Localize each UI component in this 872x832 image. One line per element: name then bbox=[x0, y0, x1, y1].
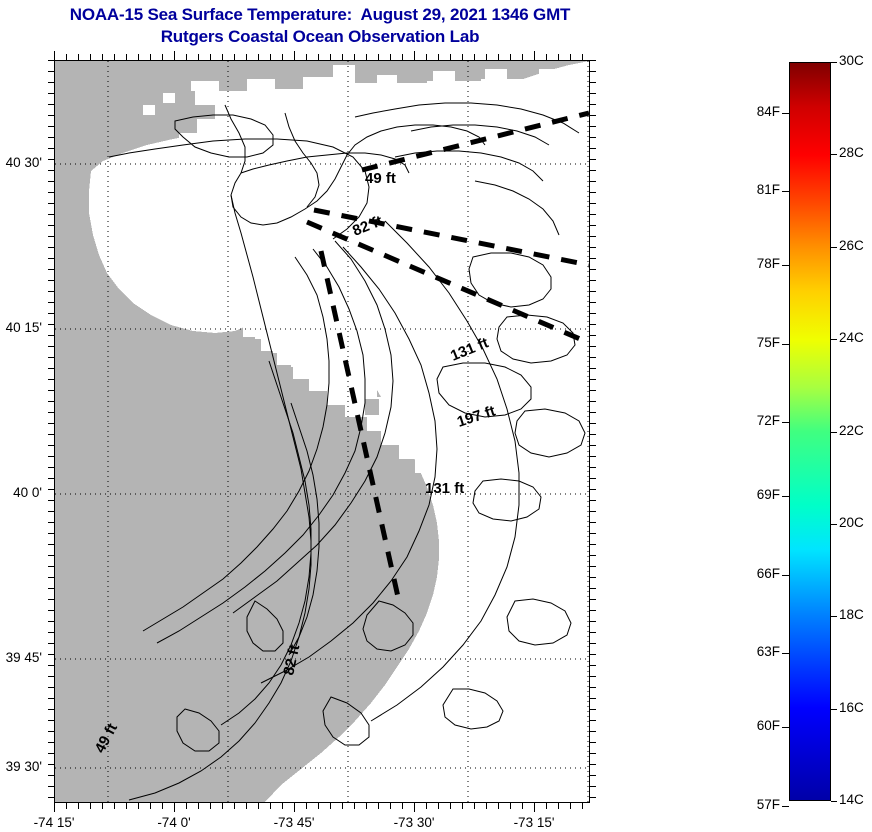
y-axis-tick bbox=[48, 203, 54, 204]
colorbar-tick-fahrenheit bbox=[782, 575, 789, 576]
x-axis-tick-top bbox=[138, 54, 139, 60]
x-axis-tick-top bbox=[378, 54, 379, 60]
y-axis-tick bbox=[48, 170, 54, 171]
y-axis-tick bbox=[48, 412, 54, 413]
x-axis-tick-top bbox=[438, 54, 439, 60]
x-axis-tick bbox=[198, 803, 199, 809]
y-axis-tick-right bbox=[590, 269, 596, 270]
colorbar-label-celsius: 16C bbox=[839, 700, 864, 715]
x-axis-label: -73 15' bbox=[484, 815, 584, 830]
y-axis-tick-right bbox=[590, 720, 596, 721]
y-axis-tick bbox=[48, 104, 54, 105]
page-title: NOAA-15 Sea Surface Temperature: August … bbox=[0, 4, 640, 48]
y-axis-tick bbox=[48, 731, 54, 732]
y-axis-tick bbox=[48, 214, 54, 215]
sst-map-page: NOAA-15 Sea Surface Temperature: August … bbox=[0, 0, 872, 832]
colorbar-label-fahrenheit: 81F bbox=[724, 182, 780, 197]
y-axis-tick-right bbox=[590, 324, 596, 325]
colorbar-tick-celsius bbox=[831, 801, 837, 802]
x-axis-tick bbox=[162, 803, 163, 809]
x-axis-tick-top bbox=[462, 54, 463, 60]
x-axis-tick bbox=[138, 803, 139, 809]
y-axis-tick-right bbox=[590, 379, 596, 380]
x-axis-tick-top bbox=[258, 54, 259, 60]
x-axis-tick bbox=[474, 803, 475, 809]
y-axis-tick-right bbox=[590, 753, 596, 754]
y-axis-tick bbox=[48, 236, 54, 237]
x-axis-tick-top bbox=[534, 51, 535, 60]
y-axis-tick-right bbox=[590, 566, 596, 567]
x-axis-tick bbox=[462, 803, 463, 809]
x-axis-tick-top bbox=[90, 54, 91, 60]
depth-label-131ft-south: 131 ft bbox=[425, 480, 464, 497]
y-axis-tick-right bbox=[590, 456, 596, 457]
x-axis-tick bbox=[66, 803, 67, 809]
x-axis-tick bbox=[234, 803, 235, 809]
x-axis-tick bbox=[402, 803, 403, 809]
y-axis-tick-right bbox=[590, 588, 596, 589]
y-axis-tick bbox=[48, 687, 54, 688]
x-axis-tick-top bbox=[474, 54, 475, 60]
y-axis-tick bbox=[48, 324, 54, 325]
colorbar-label-fahrenheit: 72F bbox=[724, 413, 780, 428]
x-axis-tick bbox=[510, 803, 511, 809]
y-axis-tick bbox=[48, 390, 54, 391]
y-axis-tick bbox=[48, 555, 54, 556]
x-axis-tick-top bbox=[282, 54, 283, 60]
colorbar-tick-celsius bbox=[831, 616, 837, 617]
x-axis-tick bbox=[222, 803, 223, 809]
y-axis-tick bbox=[48, 544, 54, 545]
colorbar-label-celsius: 14C bbox=[839, 792, 864, 807]
x-axis-tick bbox=[174, 803, 175, 812]
x-axis-tick bbox=[582, 803, 583, 809]
x-axis-tick bbox=[210, 803, 211, 809]
y-axis-tick bbox=[48, 698, 54, 699]
x-axis-tick bbox=[90, 803, 91, 809]
y-axis-tick-right bbox=[590, 159, 596, 160]
y-axis-tick-right bbox=[590, 797, 596, 798]
x-axis-tick bbox=[522, 803, 523, 809]
y-axis-tick-right bbox=[590, 225, 596, 226]
y-axis-tick-right bbox=[590, 511, 596, 512]
colorbar-label-celsius: 24C bbox=[839, 330, 864, 345]
x-axis-tick-top bbox=[114, 54, 115, 60]
y-axis-tick bbox=[48, 676, 54, 677]
y-axis-tick bbox=[48, 489, 54, 490]
y-axis-tick-right bbox=[590, 148, 596, 149]
y-axis-tick-right bbox=[590, 280, 596, 281]
y-axis-tick bbox=[48, 60, 54, 61]
y-axis-tick bbox=[48, 621, 54, 622]
y-axis-tick bbox=[48, 401, 54, 402]
colorbar-tick-fahrenheit bbox=[782, 265, 789, 266]
x-axis-tick bbox=[54, 803, 55, 812]
x-axis-tick-top bbox=[582, 54, 583, 60]
x-axis-tick-top bbox=[330, 54, 331, 60]
x-axis-label: -73 30' bbox=[364, 815, 464, 830]
y-axis-tick-right bbox=[590, 181, 596, 182]
y-axis-label: 39 30' bbox=[0, 759, 42, 774]
x-axis-tick-top bbox=[366, 54, 367, 60]
x-axis-tick-top bbox=[450, 54, 451, 60]
x-axis-tick-top bbox=[318, 54, 319, 60]
y-axis-tick bbox=[48, 126, 54, 127]
y-axis-label: 40 30' bbox=[0, 155, 42, 170]
colorbar-tick-celsius bbox=[831, 62, 837, 63]
x-axis-tick-top bbox=[546, 54, 547, 60]
x-axis-tick bbox=[390, 803, 391, 809]
x-axis-tick-top bbox=[246, 54, 247, 60]
y-axis-tick-right bbox=[590, 115, 596, 116]
y-axis-tick bbox=[48, 225, 54, 226]
y-axis-tick-right bbox=[590, 676, 596, 677]
y-axis-tick bbox=[48, 709, 54, 710]
y-axis-tick-right bbox=[590, 709, 596, 710]
x-axis-tick-top bbox=[390, 54, 391, 60]
y-axis-tick-right bbox=[590, 368, 596, 369]
temperature-colorbar[interactable] bbox=[789, 62, 831, 801]
y-axis-tick-right bbox=[590, 192, 596, 193]
y-axis-tick-right bbox=[590, 423, 596, 424]
y-axis-tick-right bbox=[590, 302, 596, 303]
colorbar-tick-celsius bbox=[831, 709, 837, 710]
y-axis-tick bbox=[48, 258, 54, 259]
x-axis-tick-top bbox=[126, 54, 127, 60]
x-axis-tick-top bbox=[498, 54, 499, 60]
y-axis-tick-right bbox=[590, 401, 596, 402]
x-axis-tick bbox=[78, 803, 79, 809]
y-axis-tick-right bbox=[590, 93, 596, 94]
x-axis-tick-top bbox=[186, 54, 187, 60]
y-axis-tick-right bbox=[590, 621, 596, 622]
y-axis-tick-right bbox=[590, 764, 596, 765]
y-axis-tick-right bbox=[590, 126, 596, 127]
x-axis-tick-top bbox=[486, 54, 487, 60]
map-plot-area[interactable]: 49 ft 82 ft 131 ft 197 ft 131 ft 82 ft 4… bbox=[54, 60, 590, 803]
x-axis-tick bbox=[186, 803, 187, 809]
y-axis-label: 39 45' bbox=[0, 650, 42, 665]
colorbar-tick-fahrenheit bbox=[782, 191, 789, 192]
y-axis-tick bbox=[48, 643, 54, 644]
y-axis-tick bbox=[48, 280, 54, 281]
x-axis-tick bbox=[342, 803, 343, 809]
y-axis-tick bbox=[48, 93, 54, 94]
colorbar-tick-fahrenheit bbox=[782, 113, 789, 114]
x-axis-tick-top bbox=[426, 54, 427, 60]
y-axis-tick-right bbox=[590, 236, 596, 237]
y-axis-tick bbox=[48, 71, 54, 72]
y-axis-tick bbox=[48, 522, 54, 523]
y-axis-tick-right bbox=[590, 434, 596, 435]
x-axis-tick bbox=[102, 803, 103, 809]
y-axis-tick bbox=[48, 720, 54, 721]
y-axis-tick-right bbox=[590, 291, 596, 292]
colorbar-label-fahrenheit: 84F bbox=[724, 104, 780, 119]
colorbar-label-fahrenheit: 57F bbox=[724, 797, 780, 812]
y-axis-tick-right bbox=[590, 599, 596, 600]
y-axis-tick-right bbox=[590, 60, 596, 61]
x-axis-tick-top bbox=[234, 54, 235, 60]
x-axis-tick-top bbox=[78, 54, 79, 60]
y-axis-tick bbox=[48, 588, 54, 589]
y-axis-tick bbox=[48, 533, 54, 534]
y-axis-tick bbox=[48, 313, 54, 314]
y-axis-tick-right bbox=[590, 643, 596, 644]
y-axis-tick-right bbox=[590, 357, 596, 358]
y-axis-tick bbox=[48, 291, 54, 292]
y-axis-tick bbox=[48, 82, 54, 83]
y-axis-tick bbox=[48, 357, 54, 358]
y-axis-tick-right bbox=[590, 390, 596, 391]
colorbar-label-fahrenheit: 69F bbox=[724, 487, 780, 502]
x-axis-label: -73 45' bbox=[244, 815, 344, 830]
x-axis-tick bbox=[318, 803, 319, 809]
y-axis-tick bbox=[48, 159, 54, 160]
y-axis-tick-right bbox=[590, 203, 596, 204]
x-axis-tick-top bbox=[54, 51, 55, 60]
x-axis-tick bbox=[294, 803, 295, 812]
y-axis-tick bbox=[48, 665, 54, 666]
x-axis-tick bbox=[126, 803, 127, 809]
colorbar-tick-celsius bbox=[831, 432, 837, 433]
x-axis-tick bbox=[438, 803, 439, 809]
y-axis-tick bbox=[48, 753, 54, 754]
y-axis-tick-right bbox=[590, 775, 596, 776]
y-axis-tick bbox=[48, 511, 54, 512]
y-axis-tick bbox=[48, 654, 54, 655]
map-graphics: 49 ft 82 ft 131 ft 197 ft 131 ft 82 ft 4… bbox=[55, 61, 589, 802]
colorbar-label-celsius: 18C bbox=[839, 607, 864, 622]
x-axis-label: -74 0' bbox=[124, 815, 224, 830]
colorbar-label-fahrenheit: 78F bbox=[724, 256, 780, 271]
y-axis-tick bbox=[48, 797, 54, 798]
y-axis-tick bbox=[48, 368, 54, 369]
y-axis-tick-right bbox=[590, 170, 596, 171]
y-axis-tick bbox=[48, 577, 54, 578]
colorbar-label-celsius: 22C bbox=[839, 423, 864, 438]
y-axis-tick bbox=[48, 599, 54, 600]
y-axis-tick-right bbox=[590, 665, 596, 666]
y-axis-tick bbox=[48, 302, 54, 303]
x-axis-tick bbox=[558, 803, 559, 809]
y-axis-tick-right bbox=[590, 71, 596, 72]
y-axis-tick-right bbox=[590, 478, 596, 479]
y-axis-tick-right bbox=[590, 214, 596, 215]
colorbar-label-fahrenheit: 63F bbox=[724, 644, 780, 659]
title-line-1: NOAA-15 Sea Surface Temperature: August … bbox=[0, 4, 640, 26]
x-axis-tick bbox=[546, 803, 547, 809]
x-axis-tick-top bbox=[210, 54, 211, 60]
x-axis-tick-top bbox=[102, 54, 103, 60]
x-axis-tick bbox=[282, 803, 283, 809]
x-axis-tick-top bbox=[354, 54, 355, 60]
x-axis-tick bbox=[354, 803, 355, 809]
y-axis-tick bbox=[48, 346, 54, 347]
x-axis-tick bbox=[378, 803, 379, 809]
y-axis-tick-right bbox=[590, 82, 596, 83]
x-axis-tick-top bbox=[294, 51, 295, 60]
y-axis-tick-right bbox=[590, 335, 596, 336]
x-axis-tick-top bbox=[150, 54, 151, 60]
x-axis-tick-top bbox=[198, 54, 199, 60]
y-axis-label: 40 15' bbox=[0, 320, 42, 335]
x-axis-tick bbox=[366, 803, 367, 809]
y-axis-tick bbox=[48, 423, 54, 424]
y-axis-tick bbox=[48, 247, 54, 248]
x-axis-tick bbox=[450, 803, 451, 809]
x-axis-tick-top bbox=[522, 54, 523, 60]
x-axis-tick-top bbox=[414, 51, 415, 60]
x-axis-tick-top bbox=[558, 54, 559, 60]
x-axis-tick bbox=[306, 803, 307, 809]
colorbar-tick-celsius bbox=[831, 339, 837, 340]
x-axis-tick-top bbox=[270, 54, 271, 60]
x-axis-tick-top bbox=[402, 54, 403, 60]
y-axis-tick-right bbox=[590, 522, 596, 523]
x-axis-tick bbox=[330, 803, 331, 809]
x-axis-tick bbox=[270, 803, 271, 809]
colorbar-label-celsius: 20C bbox=[839, 515, 864, 530]
y-axis-tick-right bbox=[590, 489, 596, 490]
y-axis-tick-right bbox=[590, 632, 596, 633]
y-axis-tick bbox=[48, 500, 54, 501]
y-axis-tick-right bbox=[590, 610, 596, 611]
y-axis-tick-right bbox=[590, 731, 596, 732]
y-axis-tick-right bbox=[590, 137, 596, 138]
x-axis-tick-top bbox=[222, 54, 223, 60]
y-axis-tick bbox=[48, 434, 54, 435]
x-axis-tick-top bbox=[174, 51, 175, 60]
y-axis-tick-right bbox=[590, 786, 596, 787]
y-axis-tick-right bbox=[590, 544, 596, 545]
y-axis-tick-right bbox=[590, 577, 596, 578]
x-axis-tick-top bbox=[342, 54, 343, 60]
y-axis-tick-right bbox=[590, 698, 596, 699]
y-axis-tick bbox=[48, 192, 54, 193]
colorbar-tick-fahrenheit bbox=[782, 653, 789, 654]
colorbar-tick-fahrenheit bbox=[782, 496, 789, 497]
x-axis-tick bbox=[570, 803, 571, 809]
y-axis-tick bbox=[48, 456, 54, 457]
y-axis-tick-right bbox=[590, 346, 596, 347]
x-axis-label: -74 15' bbox=[4, 815, 104, 830]
x-axis-tick bbox=[414, 803, 415, 812]
y-axis-tick-right bbox=[590, 500, 596, 501]
x-axis-tick bbox=[246, 803, 247, 809]
map-canvas: 49 ft 82 ft 131 ft 197 ft 131 ft 82 ft 4… bbox=[55, 61, 589, 802]
colorbar-tick-fahrenheit bbox=[782, 344, 789, 345]
x-axis-tick-top bbox=[162, 54, 163, 60]
colorbar-label-fahrenheit: 66F bbox=[724, 566, 780, 581]
colorbar-label-celsius: 28C bbox=[839, 145, 864, 160]
y-axis-tick bbox=[48, 269, 54, 270]
y-axis-tick bbox=[48, 137, 54, 138]
y-axis-tick-right bbox=[590, 412, 596, 413]
colorbar-tick-celsius bbox=[831, 247, 837, 248]
y-axis-tick bbox=[48, 742, 54, 743]
colorbar-tick-fahrenheit bbox=[782, 727, 789, 728]
y-axis-tick bbox=[48, 379, 54, 380]
colorbar-tick-celsius bbox=[831, 154, 837, 155]
x-axis-tick-top bbox=[66, 54, 67, 60]
x-axis-tick bbox=[150, 803, 151, 809]
colorbar-label-celsius: 30C bbox=[839, 53, 864, 68]
colorbar-tick-fahrenheit bbox=[782, 806, 789, 807]
y-axis-tick bbox=[48, 632, 54, 633]
x-axis-tick bbox=[258, 803, 259, 809]
y-axis-tick bbox=[48, 181, 54, 182]
x-axis-tick-top bbox=[570, 54, 571, 60]
depth-label-49ft-north: 49 ft bbox=[365, 170, 396, 187]
y-axis-tick-right bbox=[590, 313, 596, 314]
y-axis-tick bbox=[48, 467, 54, 468]
x-axis-tick bbox=[498, 803, 499, 809]
x-axis-tick-top bbox=[510, 54, 511, 60]
title-line-2: Rutgers Coastal Ocean Observation Lab bbox=[0, 26, 640, 48]
colorbar-label-fahrenheit: 60F bbox=[724, 718, 780, 733]
y-axis-tick-right bbox=[590, 467, 596, 468]
colorbar-label-fahrenheit: 75F bbox=[724, 335, 780, 350]
y-axis-tick bbox=[48, 610, 54, 611]
y-axis-tick bbox=[48, 566, 54, 567]
x-axis-tick bbox=[426, 803, 427, 809]
y-axis-tick bbox=[48, 445, 54, 446]
x-axis-tick bbox=[486, 803, 487, 809]
y-axis-tick bbox=[48, 764, 54, 765]
colorbar-tick-fahrenheit bbox=[782, 422, 789, 423]
colorbar-label-celsius: 26C bbox=[839, 238, 864, 253]
y-axis-tick-right bbox=[590, 104, 596, 105]
x-axis-tick-top bbox=[306, 54, 307, 60]
y-axis-tick-right bbox=[590, 742, 596, 743]
y-axis-label: 40 0' bbox=[0, 485, 42, 500]
y-axis-tick-right bbox=[590, 445, 596, 446]
y-axis-tick bbox=[48, 775, 54, 776]
y-axis-tick-right bbox=[590, 555, 596, 556]
y-axis-tick-right bbox=[590, 247, 596, 248]
y-axis-tick bbox=[48, 115, 54, 116]
y-axis-tick-right bbox=[590, 533, 596, 534]
y-axis-tick-right bbox=[590, 258, 596, 259]
y-axis-tick-right bbox=[590, 687, 596, 688]
colorbar-gradient bbox=[789, 62, 831, 801]
y-axis-tick-right bbox=[590, 654, 596, 655]
y-axis-tick bbox=[48, 786, 54, 787]
x-axis-tick bbox=[534, 803, 535, 812]
x-axis-tick bbox=[114, 803, 115, 809]
colorbar-tick-celsius bbox=[831, 524, 837, 525]
y-axis-tick bbox=[48, 335, 54, 336]
y-axis-tick bbox=[48, 478, 54, 479]
y-axis-tick bbox=[48, 148, 54, 149]
